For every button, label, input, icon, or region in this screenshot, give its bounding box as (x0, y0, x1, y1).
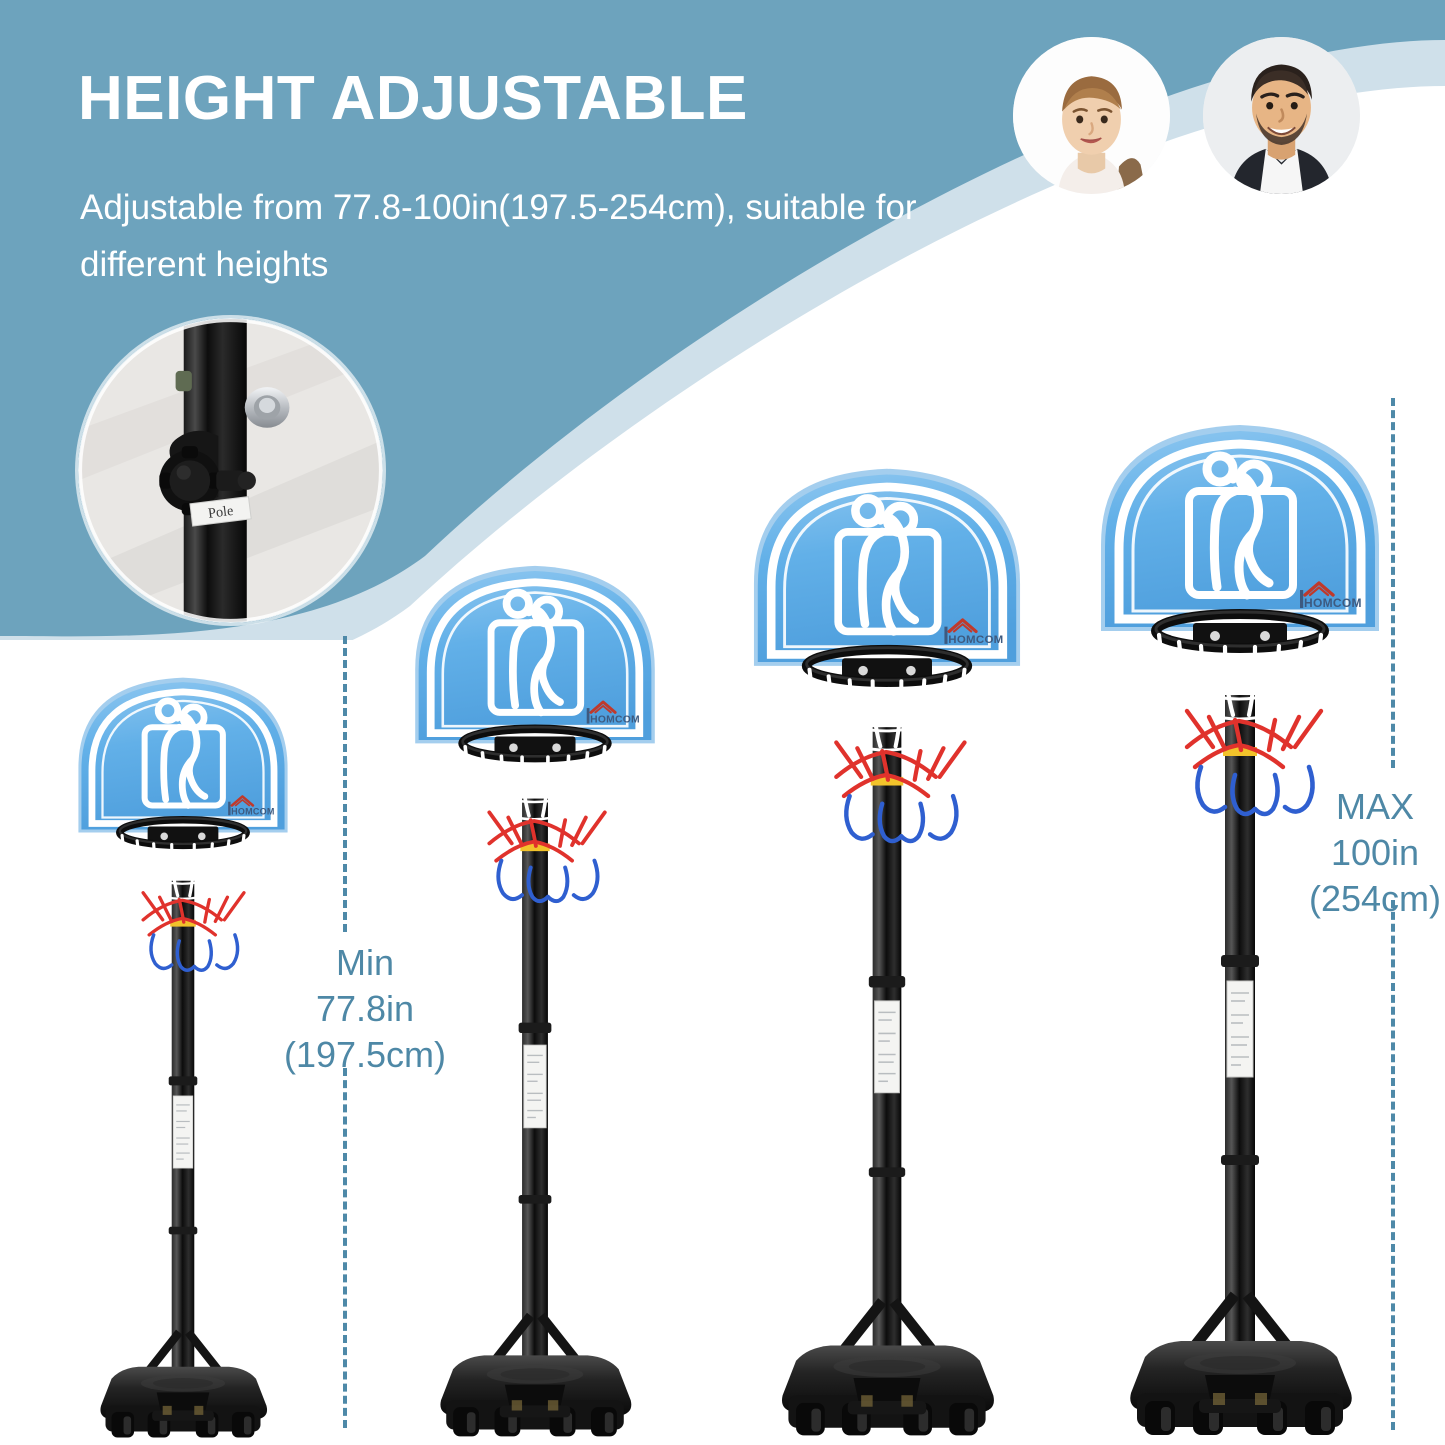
boy-portrait-avatar (1013, 37, 1170, 194)
man-portrait-avatar (1203, 37, 1360, 194)
pole-knob-closeup-inset: Pole (78, 318, 383, 623)
pole-label-text: Pole (207, 503, 234, 522)
page-subtitle: Adjustable from 77.8-100in(197.5-254cm),… (80, 180, 980, 293)
hoop-stand-min (18, 655, 348, 1445)
page-title: HEIGHT ADJUSTABLE (78, 66, 748, 131)
hoop-stand-step-3 (722, 440, 1052, 1445)
hoop-stand-step-2 (370, 540, 700, 1445)
infographic-canvas: HEIGHT ADJUSTABLE Adjustable from 77.8-1… (0, 0, 1445, 1445)
hoop-stand-max (1075, 340, 1405, 1445)
